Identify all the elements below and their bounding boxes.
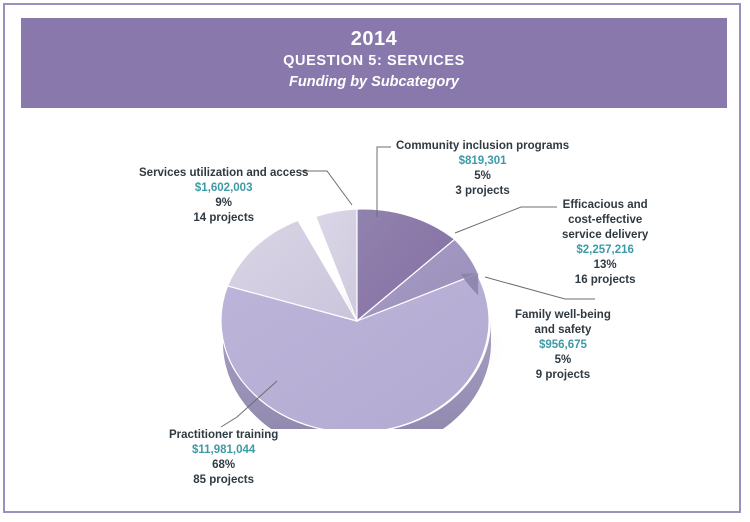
callout-projects: 16 projects <box>562 273 648 288</box>
callout-percent: 68% <box>169 458 278 473</box>
callout-projects: 14 projects <box>139 211 308 226</box>
callout-label: Practitioner training <box>169 428 278 443</box>
callout-percent: 5% <box>396 169 569 184</box>
callout-label-line3: service delivery <box>562 228 648 243</box>
callout-amount: $956,675 <box>515 338 611 353</box>
leader-practitioner-training <box>221 381 277 427</box>
callout-community-inclusion: Community inclusion programs $819,301 5%… <box>396 139 569 199</box>
callout-label-line2: cost-effective <box>562 213 648 228</box>
callout-label-line2: and safety <box>515 323 611 338</box>
callout-services-utilization: Services utilization and access $1,602,0… <box>139 166 308 226</box>
chart-title-bar: 2014 QUESTION 5: SERVICES Funding by Sub… <box>21 18 727 108</box>
leader-efficacious <box>455 207 557 233</box>
callout-label-line1: Efficacious and <box>562 198 648 213</box>
callout-label-line1: Family well-being <box>515 308 611 323</box>
callout-projects: 9 projects <box>515 368 611 383</box>
callout-practitioner-training: Practitioner training $11,981,044 68% 85… <box>169 428 278 488</box>
callout-label: Services utilization and access <box>139 166 308 181</box>
title-subtitle: Funding by Subcategory <box>21 72 727 93</box>
leader-community-inclusion <box>377 147 391 217</box>
callout-percent: 9% <box>139 196 308 211</box>
callout-percent: 5% <box>515 353 611 368</box>
page-frame: 2014 QUESTION 5: SERVICES Funding by Sub… <box>3 3 741 513</box>
callout-projects: 85 projects <box>169 473 278 488</box>
leader-services-utilization <box>301 171 352 205</box>
callout-amount: $2,257,216 <box>562 243 648 258</box>
callout-projects: 3 projects <box>396 184 569 199</box>
callout-family-wellbeing: Family well-being and safety $956,675 5%… <box>515 308 611 383</box>
title-question: QUESTION 5: SERVICES <box>21 51 727 72</box>
callout-efficacious-service-delivery: Efficacious and cost-effective service d… <box>562 198 648 288</box>
callout-amount: $11,981,044 <box>169 443 278 458</box>
chart-page: 2014 QUESTION 5: SERVICES Funding by Sub… <box>0 0 750 522</box>
callout-label: Community inclusion programs <box>396 140 569 152</box>
callout-amount: $819,301 <box>396 154 569 169</box>
callout-percent: 13% <box>562 258 648 273</box>
title-year: 2014 <box>21 27 727 51</box>
leader-lines <box>5 109 750 522</box>
callout-amount: $1,602,003 <box>139 181 308 196</box>
pie-chart-area: Community inclusion programs $819,301 5%… <box>5 109 750 522</box>
